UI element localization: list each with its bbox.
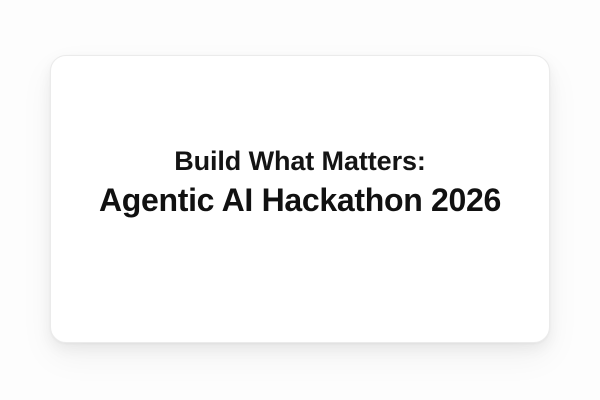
slide-card[interactable]: Build What Matters: Agentic AI Hackathon…	[50, 55, 550, 343]
slide-canvas: Build What Matters: Agentic AI Hackathon…	[0, 0, 600, 400]
slide-title-block: Build What Matters: Agentic AI Hackathon…	[51, 144, 549, 222]
slide-title-line-1: Build What Matters:	[75, 144, 525, 178]
slide-title-line-2: Agentic AI Hackathon 2026	[75, 180, 525, 222]
